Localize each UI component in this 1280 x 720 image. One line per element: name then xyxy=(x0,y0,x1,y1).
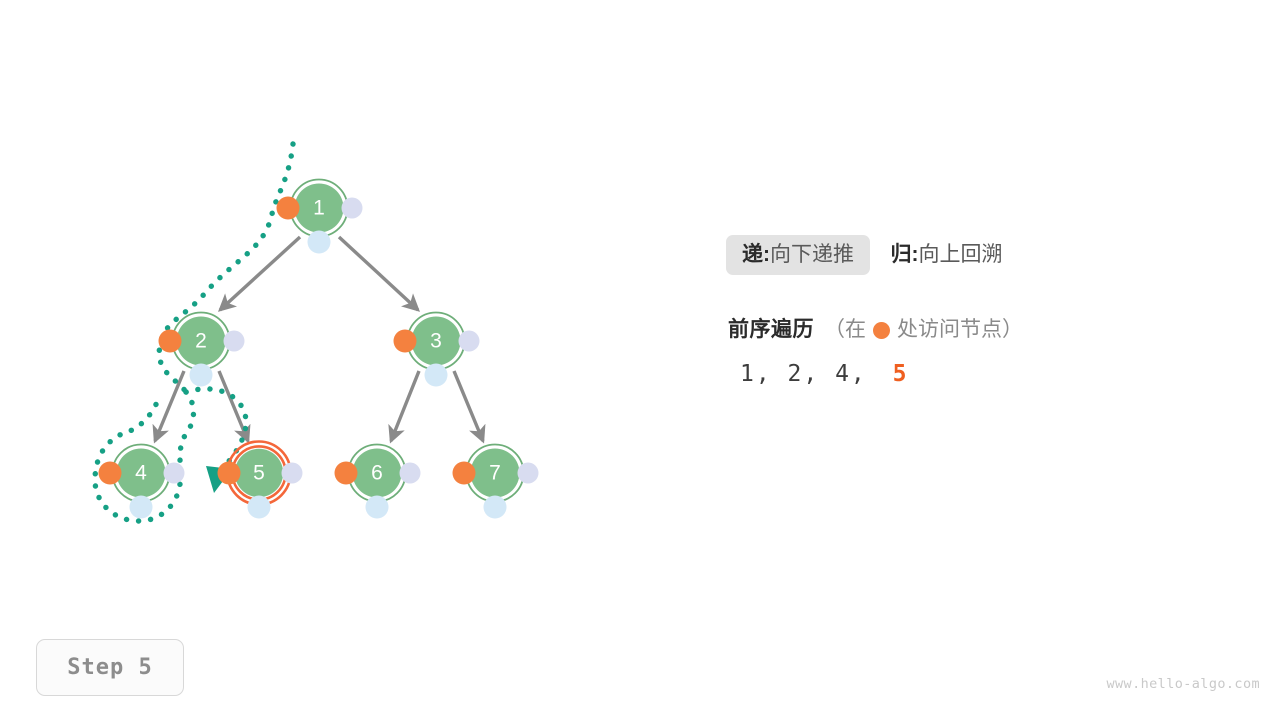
node-label-7: 7 xyxy=(489,462,501,485)
tree-node-6[interactable]: 6 xyxy=(335,445,421,519)
node-bottom-child-dot-3 xyxy=(425,364,448,387)
visit-dot-icon xyxy=(873,322,890,339)
tree-node-2[interactable]: 2 xyxy=(159,313,245,387)
edge-2-4 xyxy=(155,371,184,441)
legend-backtrack-rest: 向上回溯 xyxy=(918,244,1002,265)
legend-recurse-lead: 递: xyxy=(742,244,770,265)
node-label-6: 6 xyxy=(371,462,383,485)
traversal-output: 1, 2, 4, 5 xyxy=(726,361,1146,387)
node-left-child-dot-1 xyxy=(342,198,363,219)
watermark-text: www.hello-algo.com xyxy=(1107,676,1261,692)
step-badge-label: Step 5 xyxy=(67,655,152,680)
node-left-child-dot-7 xyxy=(518,463,539,484)
tree-node-7[interactable]: 7 xyxy=(453,445,539,519)
node-bottom-child-dot-5 xyxy=(248,496,271,519)
info-panel: 递: 向下递推 归: 向上回溯 前序遍历 （在 处访问节点） 1, 2, 4, … xyxy=(726,228,1146,387)
traversal-output-current: 5 xyxy=(893,361,909,387)
node-left-child-dot-5 xyxy=(282,463,303,484)
watermark: www.hello-algo.com xyxy=(1107,676,1261,692)
legend-recurse: 递: 向下递推 xyxy=(726,235,870,275)
node-label-3: 3 xyxy=(430,330,442,353)
tree-nodes: 1 2 3 4 xyxy=(99,180,539,519)
node-visit-dot-3 xyxy=(394,330,417,353)
node-label-5: 5 xyxy=(253,462,265,485)
traversal-note-open: （在 xyxy=(824,313,866,343)
node-visit-dot-7 xyxy=(453,462,476,485)
node-visit-dot-6 xyxy=(335,462,358,485)
edge-1-2 xyxy=(220,237,300,310)
node-left-child-dot-4 xyxy=(164,463,185,484)
node-label-4: 4 xyxy=(135,462,147,485)
tree-node-1[interactable]: 1 xyxy=(277,180,363,254)
tree-node-3[interactable]: 3 xyxy=(394,313,480,387)
tree-node-5[interactable]: 5 xyxy=(218,442,303,519)
node-bottom-child-dot-2 xyxy=(190,364,213,387)
traversal-note-close: 处访问节点） xyxy=(897,313,1023,343)
node-bottom-child-dot-7 xyxy=(484,496,507,519)
edge-1-3 xyxy=(339,237,418,310)
edge-3-7 xyxy=(454,371,483,441)
node-left-child-dot-6 xyxy=(400,463,421,484)
node-label-2: 2 xyxy=(195,330,207,353)
legend-backtrack-lead: 归: xyxy=(890,244,918,265)
node-bottom-child-dot-1 xyxy=(308,231,331,254)
node-visit-dot-1 xyxy=(277,197,300,220)
traversal-output-done: 1, 2, 4, xyxy=(740,361,867,387)
step-badge: Step 5 xyxy=(36,639,184,696)
node-left-child-dot-3 xyxy=(459,331,480,352)
node-visit-dot-4 xyxy=(99,462,122,485)
edge-3-6 xyxy=(391,371,419,441)
node-bottom-child-dot-6 xyxy=(366,496,389,519)
traversal-title: 前序遍历 （在 处访问节点） xyxy=(726,313,1146,343)
node-visit-dot-2 xyxy=(159,330,182,353)
legend-recurse-rest: 向下递推 xyxy=(770,244,854,265)
legend-backtrack: 归: 向上回溯 xyxy=(874,235,1018,275)
node-label-1: 1 xyxy=(313,197,325,220)
node-bottom-child-dot-4 xyxy=(130,496,153,519)
traversal-type-label: 前序遍历 xyxy=(728,313,814,343)
node-visit-dot-5 xyxy=(218,462,241,485)
node-left-child-dot-2 xyxy=(224,331,245,352)
